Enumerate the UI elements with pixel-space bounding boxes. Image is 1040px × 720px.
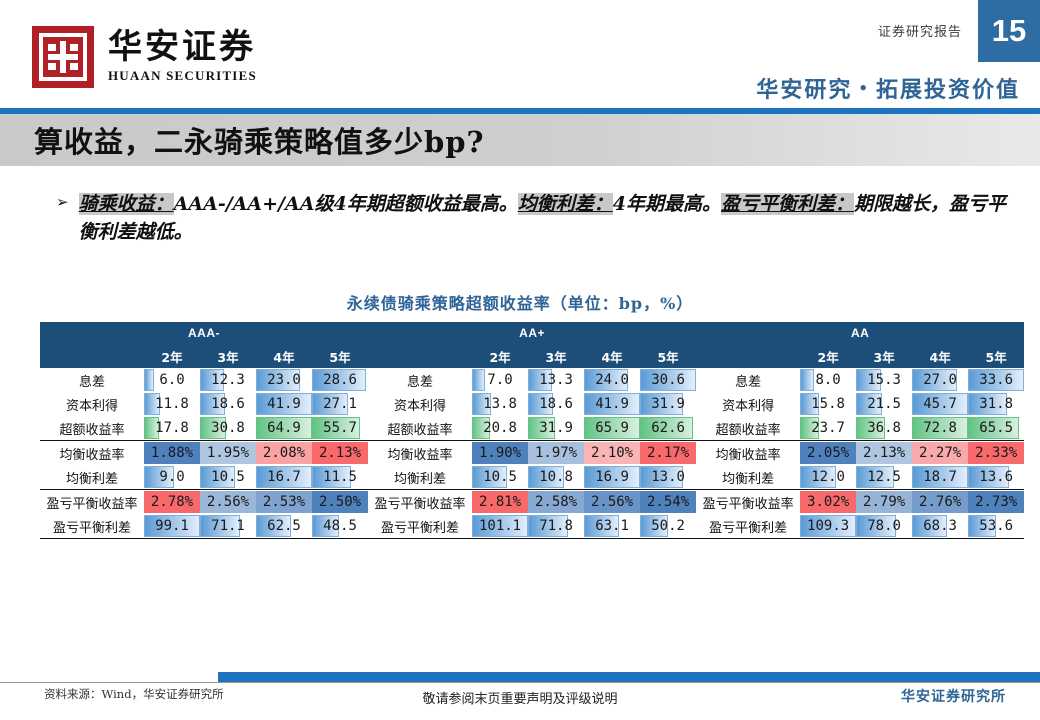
table-cell: 2.05% [800, 441, 856, 466]
cell-value: 109.3 [807, 518, 849, 534]
page-header: 华安证券 HUAAN SECURITIES 证券研究报告 15 华安研究 • 拓… [0, 0, 1040, 108]
row-label: 均衡利差 [696, 465, 800, 490]
group-header-AAA-: AAA- [40, 322, 368, 344]
table-cell: 78.0 [856, 514, 912, 539]
table-cell: 16.9 [584, 465, 640, 490]
disclaimer-note: 敬请参阅末页重要声明及评级说明 [0, 688, 1040, 707]
table-cell: 45.7 [912, 392, 968, 416]
cell-value: 7.0 [487, 372, 512, 388]
cell-value: 13.3 [539, 372, 573, 388]
table-cell: 62.5 [256, 514, 312, 539]
cell-value: 41.9 [595, 396, 629, 412]
column-header-5年: 5年 [640, 344, 696, 368]
table-row: 超额收益率17.830.864.955.7超额收益率20.831.965.962… [40, 416, 1024, 441]
cell-value: 10.5 [211, 469, 245, 485]
cell-value: 63.1 [595, 518, 629, 534]
table-cell: 27.1 [312, 392, 368, 416]
table-cell: 10.8 [528, 465, 584, 490]
table-cell: 10.5 [200, 465, 256, 490]
cell-value: 18.6 [211, 396, 245, 412]
cell-value: 15.8 [811, 396, 845, 412]
cell-value: 65.9 [595, 420, 629, 436]
table-cell: 11.8 [144, 392, 200, 416]
table-cell: 41.9 [256, 392, 312, 416]
table-cell: 6.0 [144, 368, 200, 392]
excess-return-table: AAA-AA+AA2年3年4年5年2年3年4年5年2年3年4年5年息差6.012… [40, 322, 1024, 539]
table-row: 均衡收益率1.88%1.95%2.08%2.13%均衡收益率1.90%1.97%… [40, 441, 1024, 466]
column-header-4年: 4年 [912, 344, 968, 368]
cell-value: 15.3 [867, 372, 901, 388]
table-cell: 50.2 [640, 514, 696, 539]
brand-slogan: 华安研究 • 拓展投资价值 [756, 72, 1020, 104]
table-cell: 2.58% [528, 490, 584, 515]
cell-value: 20.8 [483, 420, 517, 436]
table-cell: 9.0 [144, 465, 200, 490]
company-logo: 华安证券 HUAAN SECURITIES [32, 26, 257, 88]
cell-value: 10.5 [483, 469, 517, 485]
cell-value: 1.97% [535, 445, 577, 461]
cell-value: 31.9 [539, 420, 573, 436]
group-header-AA: AA [696, 322, 1024, 344]
cell-value: 31.9 [651, 396, 685, 412]
page-title: 算收益，二永骑乘策略值多少bp? [34, 119, 485, 161]
table-cell: 2.27% [912, 441, 968, 466]
row-label: 息差 [696, 368, 800, 392]
table-cell: 63.1 [584, 514, 640, 539]
table-cell: 64.9 [256, 416, 312, 441]
table-cell: 12.3 [200, 368, 256, 392]
table-cell: 68.3 [912, 514, 968, 539]
cell-value: 2.81% [479, 494, 521, 510]
cell-value: 10.8 [539, 469, 573, 485]
table-cell: 62.6 [640, 416, 696, 441]
table-cell: 2.76% [912, 490, 968, 515]
bullet-keyword: 均衡利差： [518, 193, 613, 215]
cell-value: 18.7 [923, 469, 957, 485]
table-row: 盈亏平衡收益率2.78%2.56%2.53%2.50%盈亏平衡收益率2.81%2… [40, 490, 1024, 515]
cell-databar [472, 369, 485, 391]
row-label: 盈亏平衡利差 [368, 514, 472, 539]
cell-value: 2.78% [151, 494, 193, 510]
cell-databar [800, 369, 813, 391]
table-cell: 2.17% [640, 441, 696, 466]
row-label: 盈亏平衡利差 [696, 514, 800, 539]
cell-value: 101.1 [479, 518, 521, 534]
table-cell: 18.7 [912, 465, 968, 490]
table-cell: 15.8 [800, 392, 856, 416]
table-tenor-header-row: 2年3年4年5年2年3年4年5年2年3年4年5年 [40, 344, 1024, 368]
table-cell: 65.9 [584, 416, 640, 441]
row-label: 盈亏平衡收益率 [40, 490, 144, 515]
cell-value: 23.0 [267, 372, 301, 388]
cell-value: 2.13% [863, 445, 905, 461]
logo-text-en: HUAAN SECURITIES [108, 68, 257, 84]
table-cell: 2.53% [256, 490, 312, 515]
cell-value: 55.7 [323, 420, 357, 436]
section-title-bar: 算收益，二永骑乘策略值多少bp? [0, 114, 1040, 166]
cell-value: 2.33% [975, 445, 1017, 461]
footer-divider [0, 682, 1040, 683]
cell-value: 2.73% [975, 494, 1017, 510]
table-cell: 2.54% [640, 490, 696, 515]
column-header-4年: 4年 [256, 344, 312, 368]
cell-value: 41.9 [267, 396, 301, 412]
column-header-2年: 2年 [144, 344, 200, 368]
table-cell: 16.7 [256, 465, 312, 490]
table-cell: 53.6 [968, 514, 1024, 539]
row-label: 资本利得 [368, 392, 472, 416]
table-cell: 2.56% [584, 490, 640, 515]
table-group-header-row: AAA-AA+AA [40, 322, 1024, 344]
row-label: 均衡收益率 [368, 441, 472, 466]
table-cell: 2.13% [856, 441, 912, 466]
cell-value: 2.54% [647, 494, 689, 510]
table-cell: 27.0 [912, 368, 968, 392]
row-label: 盈亏平衡收益率 [696, 490, 800, 515]
cell-value: 12.5 [867, 469, 901, 485]
header-corner-blank [40, 344, 144, 368]
table-cell: 2.79% [856, 490, 912, 515]
table-cell: 15.3 [856, 368, 912, 392]
table-cell: 1.90% [472, 441, 528, 466]
table-cell: 31.9 [528, 416, 584, 441]
table-cell: 2.08% [256, 441, 312, 466]
table-cell: 99.1 [144, 514, 200, 539]
table-cell: 109.3 [800, 514, 856, 539]
row-label: 盈亏平衡利差 [40, 514, 144, 539]
table-row: 盈亏平衡利差99.171.162.548.5盈亏平衡利差101.171.863.… [40, 514, 1024, 539]
cell-value: 1.95% [207, 445, 249, 461]
cell-value: 2.05% [807, 445, 849, 461]
row-label: 超额收益率 [368, 416, 472, 441]
cell-value: 62.5 [267, 518, 301, 534]
cell-value: 12.3 [211, 372, 245, 388]
cell-value: 17.8 [155, 420, 189, 436]
cell-value: 2.17% [647, 445, 689, 461]
cell-value: 45.7 [923, 396, 957, 412]
cell-value: 71.8 [539, 518, 573, 534]
bullet-keyword: 骑乘收益： [79, 193, 174, 215]
cell-value: 16.9 [595, 469, 629, 485]
cell-value: 2.76% [919, 494, 961, 510]
table-cell: 23.0 [256, 368, 312, 392]
row-label: 均衡收益率 [696, 441, 800, 466]
column-header-2年: 2年 [472, 344, 528, 368]
table-cell: 18.6 [200, 392, 256, 416]
cell-value: 2.08% [263, 445, 305, 461]
bullet-sentence: 4年期最高。 [613, 193, 721, 215]
cell-value: 13.8 [483, 396, 517, 412]
bullet-arrow-icon: ➢ [56, 190, 69, 246]
cell-value: 2.50% [319, 494, 361, 510]
table-cell: 1.97% [528, 441, 584, 466]
row-label: 超额收益率 [40, 416, 144, 441]
cell-value: 18.6 [539, 396, 573, 412]
column-header-5年: 5年 [968, 344, 1024, 368]
table-row: 息差6.012.323.028.6息差7.013.324.030.6息差8.01… [40, 368, 1024, 392]
cell-value: 27.1 [323, 396, 357, 412]
bullet-sentence: AAA-/AA+/AA级4年期超额收益最高。 [174, 193, 518, 215]
table-cell: 20.8 [472, 416, 528, 441]
cell-value: 53.6 [979, 518, 1013, 534]
slogan-dot-icon: • [858, 79, 870, 97]
slogan-right-text: 拓展投资价值 [876, 72, 1020, 104]
cell-value: 48.5 [323, 518, 357, 534]
table-cell: 2.81% [472, 490, 528, 515]
cell-value: 28.6 [323, 372, 357, 388]
row-label: 盈亏平衡收益率 [368, 490, 472, 515]
cell-value: 27.0 [923, 372, 957, 388]
cell-databar [144, 369, 154, 391]
column-header-2年: 2年 [800, 344, 856, 368]
table-row: 均衡利差9.010.516.711.5均衡利差10.510.816.913.0均… [40, 465, 1024, 490]
data-table-wrap: AAA-AA+AA2年3年4年5年2年3年4年5年2年3年4年5年息差6.012… [40, 322, 1000, 539]
cell-value: 50.2 [651, 518, 685, 534]
column-header-5年: 5年 [312, 344, 368, 368]
table-cell: 2.10% [584, 441, 640, 466]
row-label: 均衡收益率 [40, 441, 144, 466]
cell-value: 65.5 [979, 420, 1013, 436]
cell-value: 99.1 [155, 518, 189, 534]
table-cell: 2.50% [312, 490, 368, 515]
cell-value: 24.0 [595, 372, 629, 388]
row-label: 息差 [40, 368, 144, 392]
slogan-left-text: 华安研究 [756, 72, 852, 104]
table-cell: 13.3 [528, 368, 584, 392]
table-row: 资本利得11.818.641.927.1资本利得13.818.641.931.9… [40, 392, 1024, 416]
table-cell: 7.0 [472, 368, 528, 392]
table-cell: 17.8 [144, 416, 200, 441]
row-label: 资本利得 [696, 392, 800, 416]
table-cell: 72.8 [912, 416, 968, 441]
cell-value: 2.10% [591, 445, 633, 461]
cell-value: 2.79% [863, 494, 905, 510]
cell-value: 16.7 [267, 469, 301, 485]
table-cell: 101.1 [472, 514, 528, 539]
footer-brand: 华安证券研究所 [901, 686, 1006, 706]
table-cell: 2.78% [144, 490, 200, 515]
table-cell: 8.0 [800, 368, 856, 392]
header-corner-blank [696, 344, 800, 368]
cell-value: 1.88% [151, 445, 193, 461]
bullet-text: 骑乘收益：AAA-/AA+/AA级4年期超额收益最高。均衡利差：4年期最高。盈亏… [79, 190, 1016, 246]
table-cell: 41.9 [584, 392, 640, 416]
table-cell: 13.0 [640, 465, 696, 490]
cell-value: 62.6 [651, 420, 685, 436]
cell-value: 31.8 [979, 396, 1013, 412]
table-cell: 13.6 [968, 465, 1024, 490]
table-cell: 31.9 [640, 392, 696, 416]
column-header-3年: 3年 [528, 344, 584, 368]
column-header-3年: 3年 [200, 344, 256, 368]
table-cell: 1.95% [200, 441, 256, 466]
table-cell: 12.5 [856, 465, 912, 490]
cell-value: 30.6 [651, 372, 685, 388]
cell-value: 21.5 [867, 396, 901, 412]
table-cell: 18.6 [528, 392, 584, 416]
cell-value: 2.58% [535, 494, 577, 510]
column-header-4年: 4年 [584, 344, 640, 368]
logo-text-cn: 华安证券 [108, 30, 257, 66]
cell-value: 8.0 [815, 372, 840, 388]
table-cell: 28.6 [312, 368, 368, 392]
table-cell: 13.8 [472, 392, 528, 416]
table-cell: 2.73% [968, 490, 1024, 515]
cell-value: 33.6 [979, 372, 1013, 388]
cell-value: 6.0 [159, 372, 184, 388]
table-cell: 30.6 [640, 368, 696, 392]
slide-page: 华安证券 HUAAN SECURITIES 证券研究报告 15 华安研究 • 拓… [0, 0, 1040, 720]
page-number-badge: 15 [978, 0, 1040, 62]
row-label: 均衡利差 [368, 465, 472, 490]
cell-value: 2.56% [591, 494, 633, 510]
cell-value: 71.1 [211, 518, 245, 534]
table-cell: 2.13% [312, 441, 368, 466]
logo-mark-icon [32, 26, 94, 88]
row-label: 超额收益率 [696, 416, 800, 441]
table-cell: 24.0 [584, 368, 640, 392]
table-cell: 23.7 [800, 416, 856, 441]
table-cell: 55.7 [312, 416, 368, 441]
cell-value: 68.3 [923, 518, 957, 534]
table-cell: 2.33% [968, 441, 1024, 466]
cell-value: 64.9 [267, 420, 301, 436]
table-cell: 31.8 [968, 392, 1024, 416]
table-cell: 48.5 [312, 514, 368, 539]
bullet-keyword: 盈亏平衡利差： [721, 193, 854, 215]
report-type-label: 证券研究报告 [878, 21, 962, 40]
table-cell: 65.5 [968, 416, 1024, 441]
cell-value: 1.90% [479, 445, 521, 461]
cell-value: 3.02% [807, 494, 849, 510]
cell-value: 2.56% [207, 494, 249, 510]
header-corner-blank [368, 344, 472, 368]
cell-value: 13.6 [979, 469, 1013, 485]
cell-value: 9.0 [159, 469, 184, 485]
cell-value: 23.7 [811, 420, 845, 436]
bullet-block: ➢ 骑乘收益：AAA-/AA+/AA级4年期超额收益最高。均衡利差：4年期最高。… [56, 190, 1016, 246]
row-label: 息差 [368, 368, 472, 392]
footer-accent-bar [218, 672, 1040, 682]
group-header-AA+: AA+ [368, 322, 696, 344]
table-cell: 33.6 [968, 368, 1024, 392]
cell-value: 30.8 [211, 420, 245, 436]
row-label: 均衡利差 [40, 465, 144, 490]
column-header-3年: 3年 [856, 344, 912, 368]
cell-value: 72.8 [923, 420, 957, 436]
table-cell: 1.88% [144, 441, 200, 466]
table-cell: 21.5 [856, 392, 912, 416]
cell-value: 11.8 [155, 396, 189, 412]
table-cell: 3.02% [800, 490, 856, 515]
table-cell: 36.8 [856, 416, 912, 441]
row-label: 资本利得 [40, 392, 144, 416]
table-cell: 71.8 [528, 514, 584, 539]
cell-value: 2.53% [263, 494, 305, 510]
table-cell: 11.5 [312, 465, 368, 490]
cell-value: 12.0 [811, 469, 845, 485]
cell-value: 36.8 [867, 420, 901, 436]
table-caption: 永续债骑乘策略超额收益率（单位：bp，%） [0, 290, 1040, 314]
cell-value: 78.0 [867, 518, 901, 534]
table-cell: 2.56% [200, 490, 256, 515]
cell-value: 2.27% [919, 445, 961, 461]
cell-value: 2.13% [319, 445, 361, 461]
table-cell: 12.0 [800, 465, 856, 490]
cell-value: 13.0 [651, 469, 685, 485]
cell-value: 11.5 [323, 469, 357, 485]
table-cell: 30.8 [200, 416, 256, 441]
table-cell: 71.1 [200, 514, 256, 539]
table-cell: 10.5 [472, 465, 528, 490]
